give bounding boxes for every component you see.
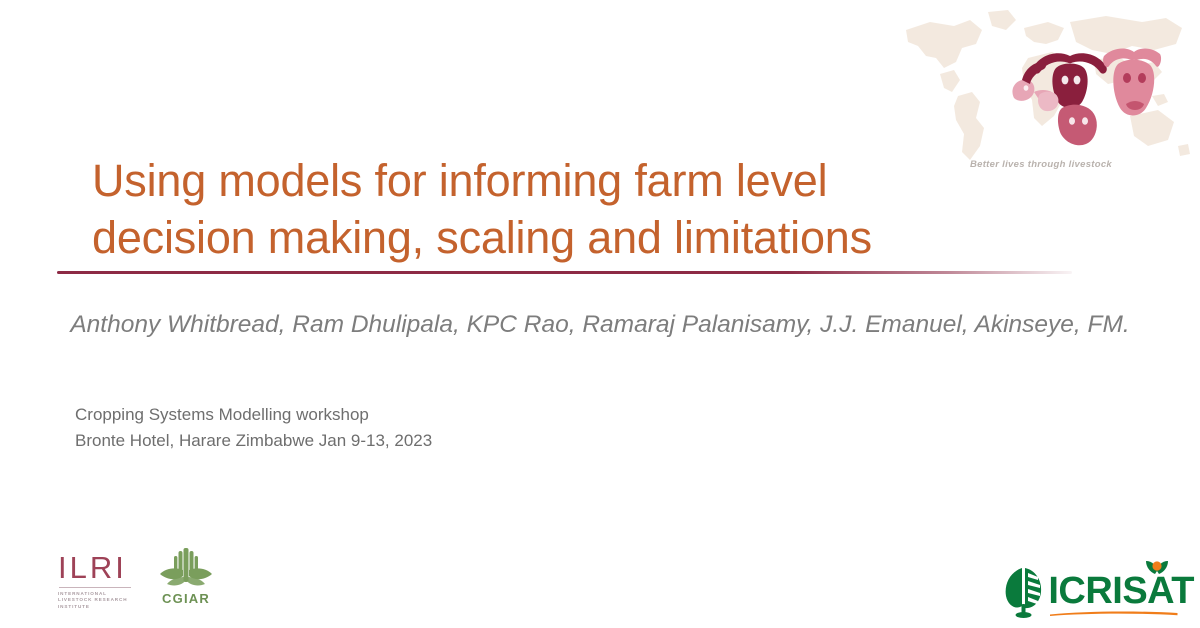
icrisat-wordmark-wrap: ICRISAT (1048, 571, 1194, 611)
ilri-logo: ILRI INTERNATIONAL LIVESTOCK RESEARCH IN… (58, 552, 136, 610)
ilri-subtext: INTERNATIONAL LIVESTOCK RESEARCH INSTITU… (58, 591, 136, 610)
event-name: Cropping Systems Modelling workshop (75, 402, 432, 428)
icrisat-leaf-icon (1002, 564, 1046, 618)
ilri-wordmark: ILRI (58, 552, 127, 584)
title-line-2: decision making, scaling and limitations (92, 209, 1092, 266)
event-venue-date: Bronte Hotel, Harare Zimbabwe Jan 9-13, … (75, 428, 432, 454)
icrisat-wordmark: ICRISAT (1048, 571, 1194, 611)
cgiar-wordmark: CGIAR (162, 591, 210, 606)
icrisat-sprout-icon (1144, 558, 1170, 578)
page-title: Using models for informing farm level de… (92, 152, 1092, 266)
ilri-livestock-emblem: Better lives through livestock (896, 4, 1194, 176)
event-details: Cropping Systems Modelling workshop Bron… (75, 402, 432, 454)
partner-logos-left: ILRI INTERNATIONAL LIVESTOCK RESEARCH IN… (58, 544, 214, 610)
ilri-logo-divider (59, 587, 131, 588)
icrisat-logo: ICRISAT (1002, 562, 1194, 620)
title-divider (57, 271, 1072, 274)
title-line-1: Using models for informing farm level (92, 152, 1092, 209)
presentation-title-slide: Better lives through livestock Using mod… (0, 0, 1200, 628)
cgiar-wheat-icon (158, 544, 214, 590)
cgiar-logo: CGIAR (158, 544, 214, 610)
livestock-silhouettes-icon (1000, 42, 1180, 150)
authors-line: Anthony Whitbread, Ram Dhulipala, KPC Ra… (30, 306, 1170, 343)
icrisat-swoosh-icon (1050, 610, 1178, 616)
